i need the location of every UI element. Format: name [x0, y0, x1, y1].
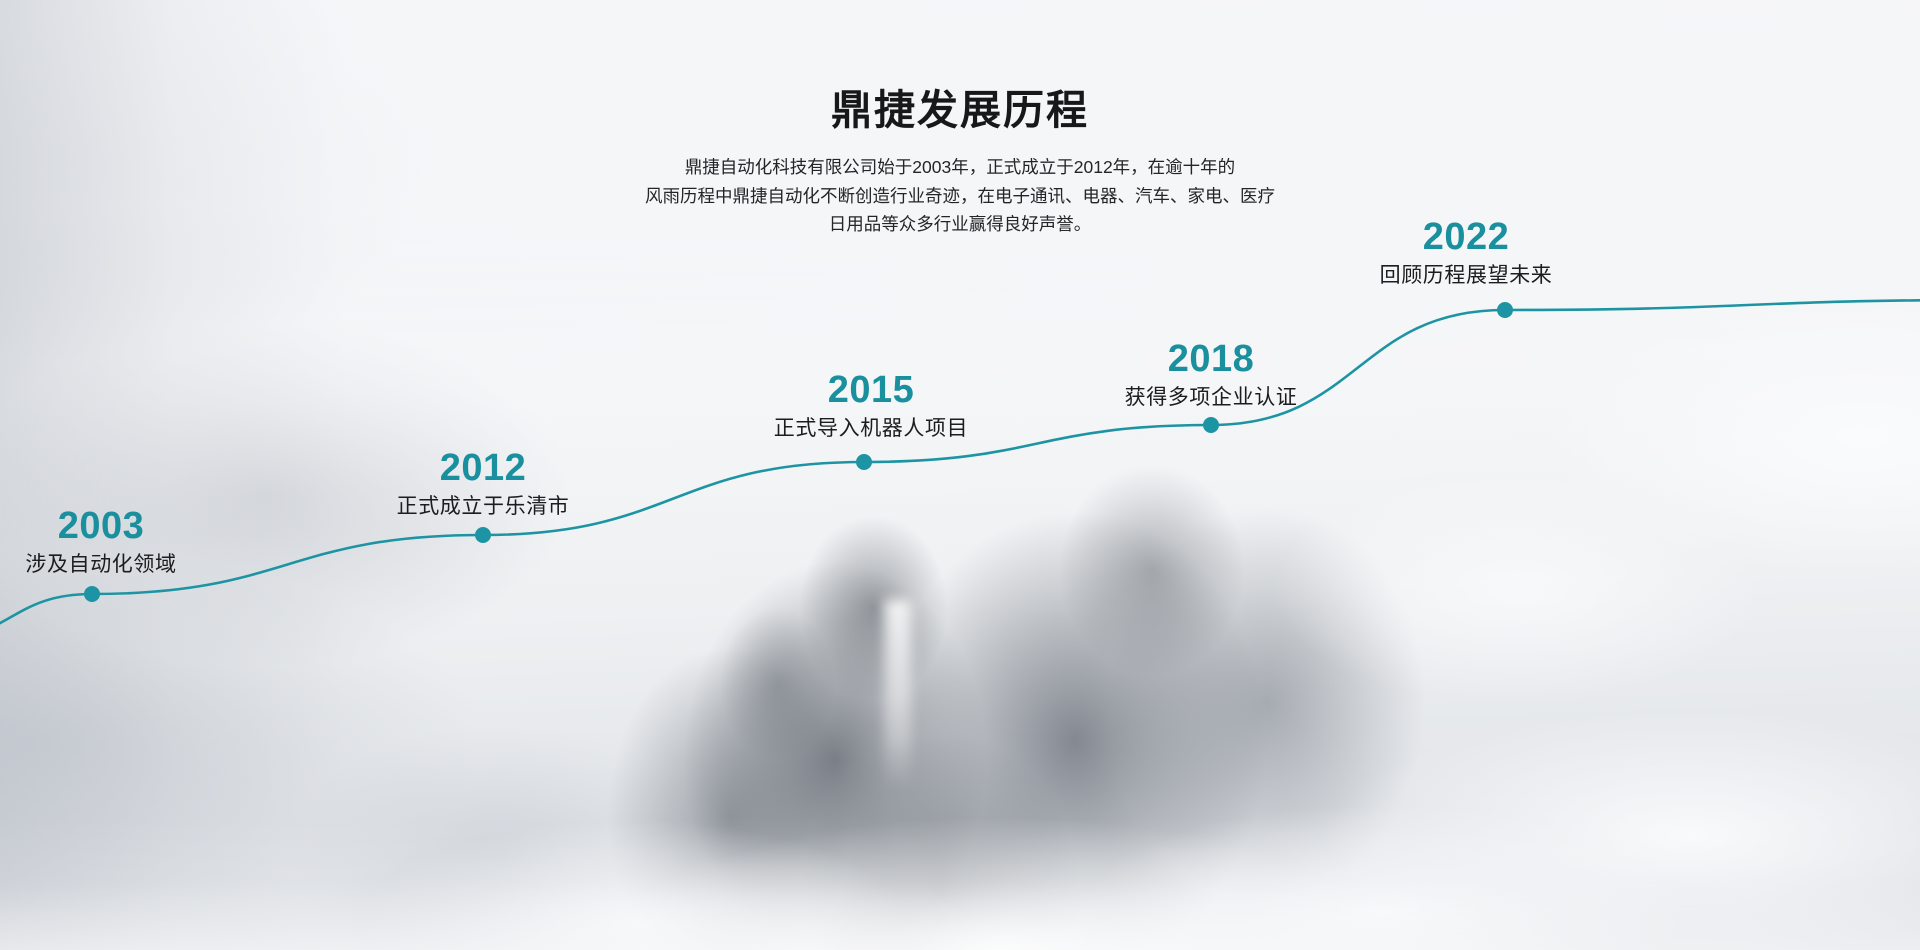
milestone-label-2003: 涉及自动化领域	[25, 552, 176, 578]
timeline-dot-2015[interactable]	[856, 454, 872, 470]
page-title: 鼎捷发展历程	[0, 86, 1920, 135]
milestone-2015[interactable]: 2015正式导入机器人项目	[774, 371, 968, 442]
milestone-2003[interactable]: 2003涉及自动化领域	[25, 507, 176, 578]
milestone-label-2022: 回顾历程展望未来	[1380, 263, 1553, 289]
header-block: 鼎捷发展历程 鼎捷自动化科技有限公司始于2003年，正式成立于2012年，在逾十…	[0, 86, 1920, 238]
milestone-2012[interactable]: 2012正式成立于乐清市	[397, 449, 570, 520]
page-description-line-3: 日用品等众多行业赢得良好声誉。	[0, 210, 1920, 238]
milestone-label-2015: 正式导入机器人项目	[774, 416, 968, 442]
timeline-dot-2012[interactable]	[475, 527, 491, 543]
milestone-label-2018: 获得多项企业认证	[1125, 385, 1298, 411]
slide-canvas: 鼎捷发展历程 鼎捷自动化科技有限公司始于2003年，正式成立于2012年，在逾十…	[0, 0, 1920, 950]
milestone-year-2003: 2003	[25, 507, 176, 547]
timeline-curve	[0, 300, 1920, 640]
milestone-year-2012: 2012	[397, 449, 570, 489]
timeline-dot-2003[interactable]	[84, 586, 100, 602]
timeline-dot-2022[interactable]	[1497, 302, 1513, 318]
milestone-year-2018: 2018	[1125, 340, 1298, 380]
milestone-label-2012: 正式成立于乐清市	[397, 494, 570, 520]
page-description-line-1: 鼎捷自动化科技有限公司始于2003年，正式成立于2012年，在逾十年的	[0, 153, 1920, 181]
milestone-2018[interactable]: 2018获得多项企业认证	[1125, 340, 1298, 411]
page-description-line-2: 风雨历程中鼎捷自动化不断创造行业奇迹，在电子通讯、电器、汽车、家电、医疗	[0, 182, 1920, 210]
milestone-year-2022: 2022	[1380, 218, 1553, 258]
page-description: 鼎捷自动化科技有限公司始于2003年，正式成立于2012年，在逾十年的 风雨历程…	[0, 153, 1920, 238]
timeline-dot-group	[84, 302, 1513, 602]
milestone-year-2015: 2015	[774, 371, 968, 411]
timeline-dot-2018[interactable]	[1203, 417, 1219, 433]
milestone-2022[interactable]: 2022回顾历程展望未来	[1380, 218, 1553, 289]
